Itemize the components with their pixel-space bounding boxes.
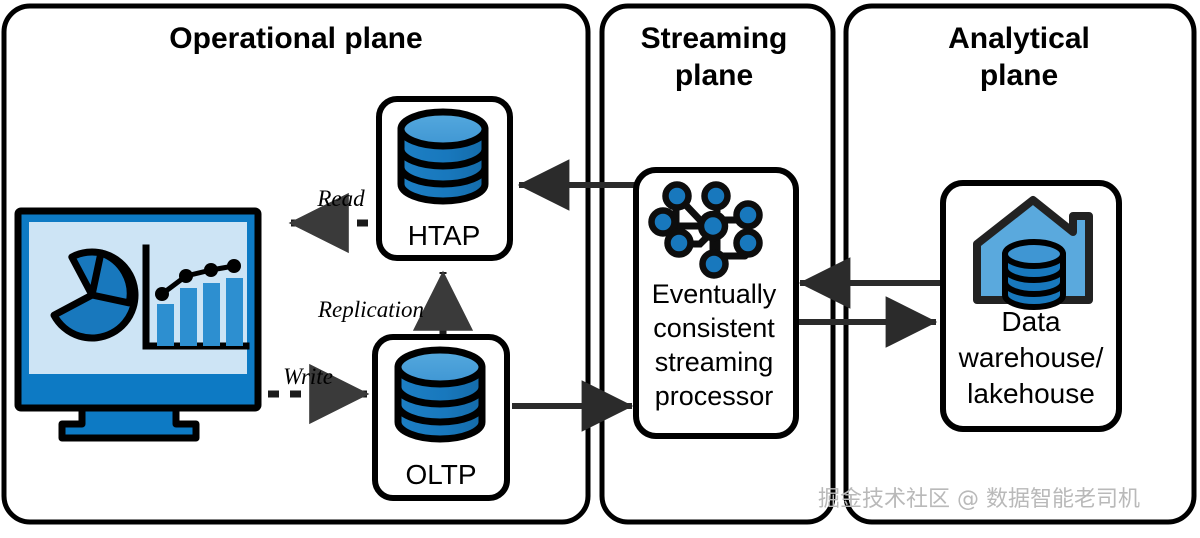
bar-4 [226, 278, 243, 346]
house-database-icon [1005, 242, 1063, 307]
circuit-node-4 [652, 211, 675, 234]
node-processor-label-line4: processor [655, 381, 774, 411]
plane-streaming-title-line1: Streaming [641, 22, 788, 55]
edge-read-label: Read [316, 186, 365, 211]
node-oltp-label: OLTP [405, 459, 476, 490]
trend-dot-3 [204, 263, 218, 277]
bar-3 [203, 283, 220, 346]
trend-dot-2 [179, 269, 193, 283]
node-processor-label-line1: Eventually [652, 279, 777, 309]
node-warehouse-label-line3: lakehouse [967, 378, 1095, 409]
db-top [398, 350, 482, 384]
diagram-canvas: Operational plane Streaming plane Analyt… [0, 0, 1200, 538]
node-oltp[interactable]: OLTP [375, 337, 507, 498]
node-processor-label-line2: consistent [653, 313, 775, 343]
circuit-node-5 [701, 214, 725, 238]
circuit-node-2 [705, 185, 728, 208]
house-db-top [1005, 242, 1063, 266]
plane-streaming-title-line2: plane [675, 59, 753, 92]
node-htap-label: HTAP [408, 220, 481, 251]
circuit-node-3 [737, 204, 760, 227]
plane-analytical-title-line2: plane [980, 59, 1058, 92]
circuit-node-7 [668, 232, 691, 255]
bar-2 [180, 288, 197, 346]
node-htap[interactable]: HTAP [379, 99, 510, 258]
trend-dot-4 [227, 259, 241, 273]
plane-analytical-title-line1: Analytical [948, 22, 1090, 55]
trend-dot-1 [155, 287, 169, 301]
node-warehouse[interactable]: Data warehouse/ lakehouse [943, 183, 1119, 429]
node-warehouse-label-line1: Data [1001, 306, 1061, 337]
circuit-node-1 [666, 185, 689, 208]
watermark-label: 掘金技术社区 @ 数据智能老司机 [818, 487, 1140, 512]
edge-write-label: Write [283, 364, 333, 389]
node-processor-label-line3: streaming [655, 347, 774, 377]
node-stream-processor[interactable]: Eventually consistent streaming processo… [636, 170, 796, 436]
node-warehouse-label-line2: warehouse/ [958, 342, 1104, 373]
db-top [401, 112, 485, 146]
circuit-node-6 [737, 232, 760, 255]
database-cylinder-icon [398, 350, 482, 439]
bar-1 [157, 304, 174, 346]
plane-operational-title: Operational plane [169, 22, 422, 55]
node-dashboard[interactable] [18, 211, 258, 438]
circuit-node-8 [703, 253, 726, 276]
database-cylinder-icon [401, 112, 485, 201]
edge-replication-label: Replication [317, 297, 424, 322]
